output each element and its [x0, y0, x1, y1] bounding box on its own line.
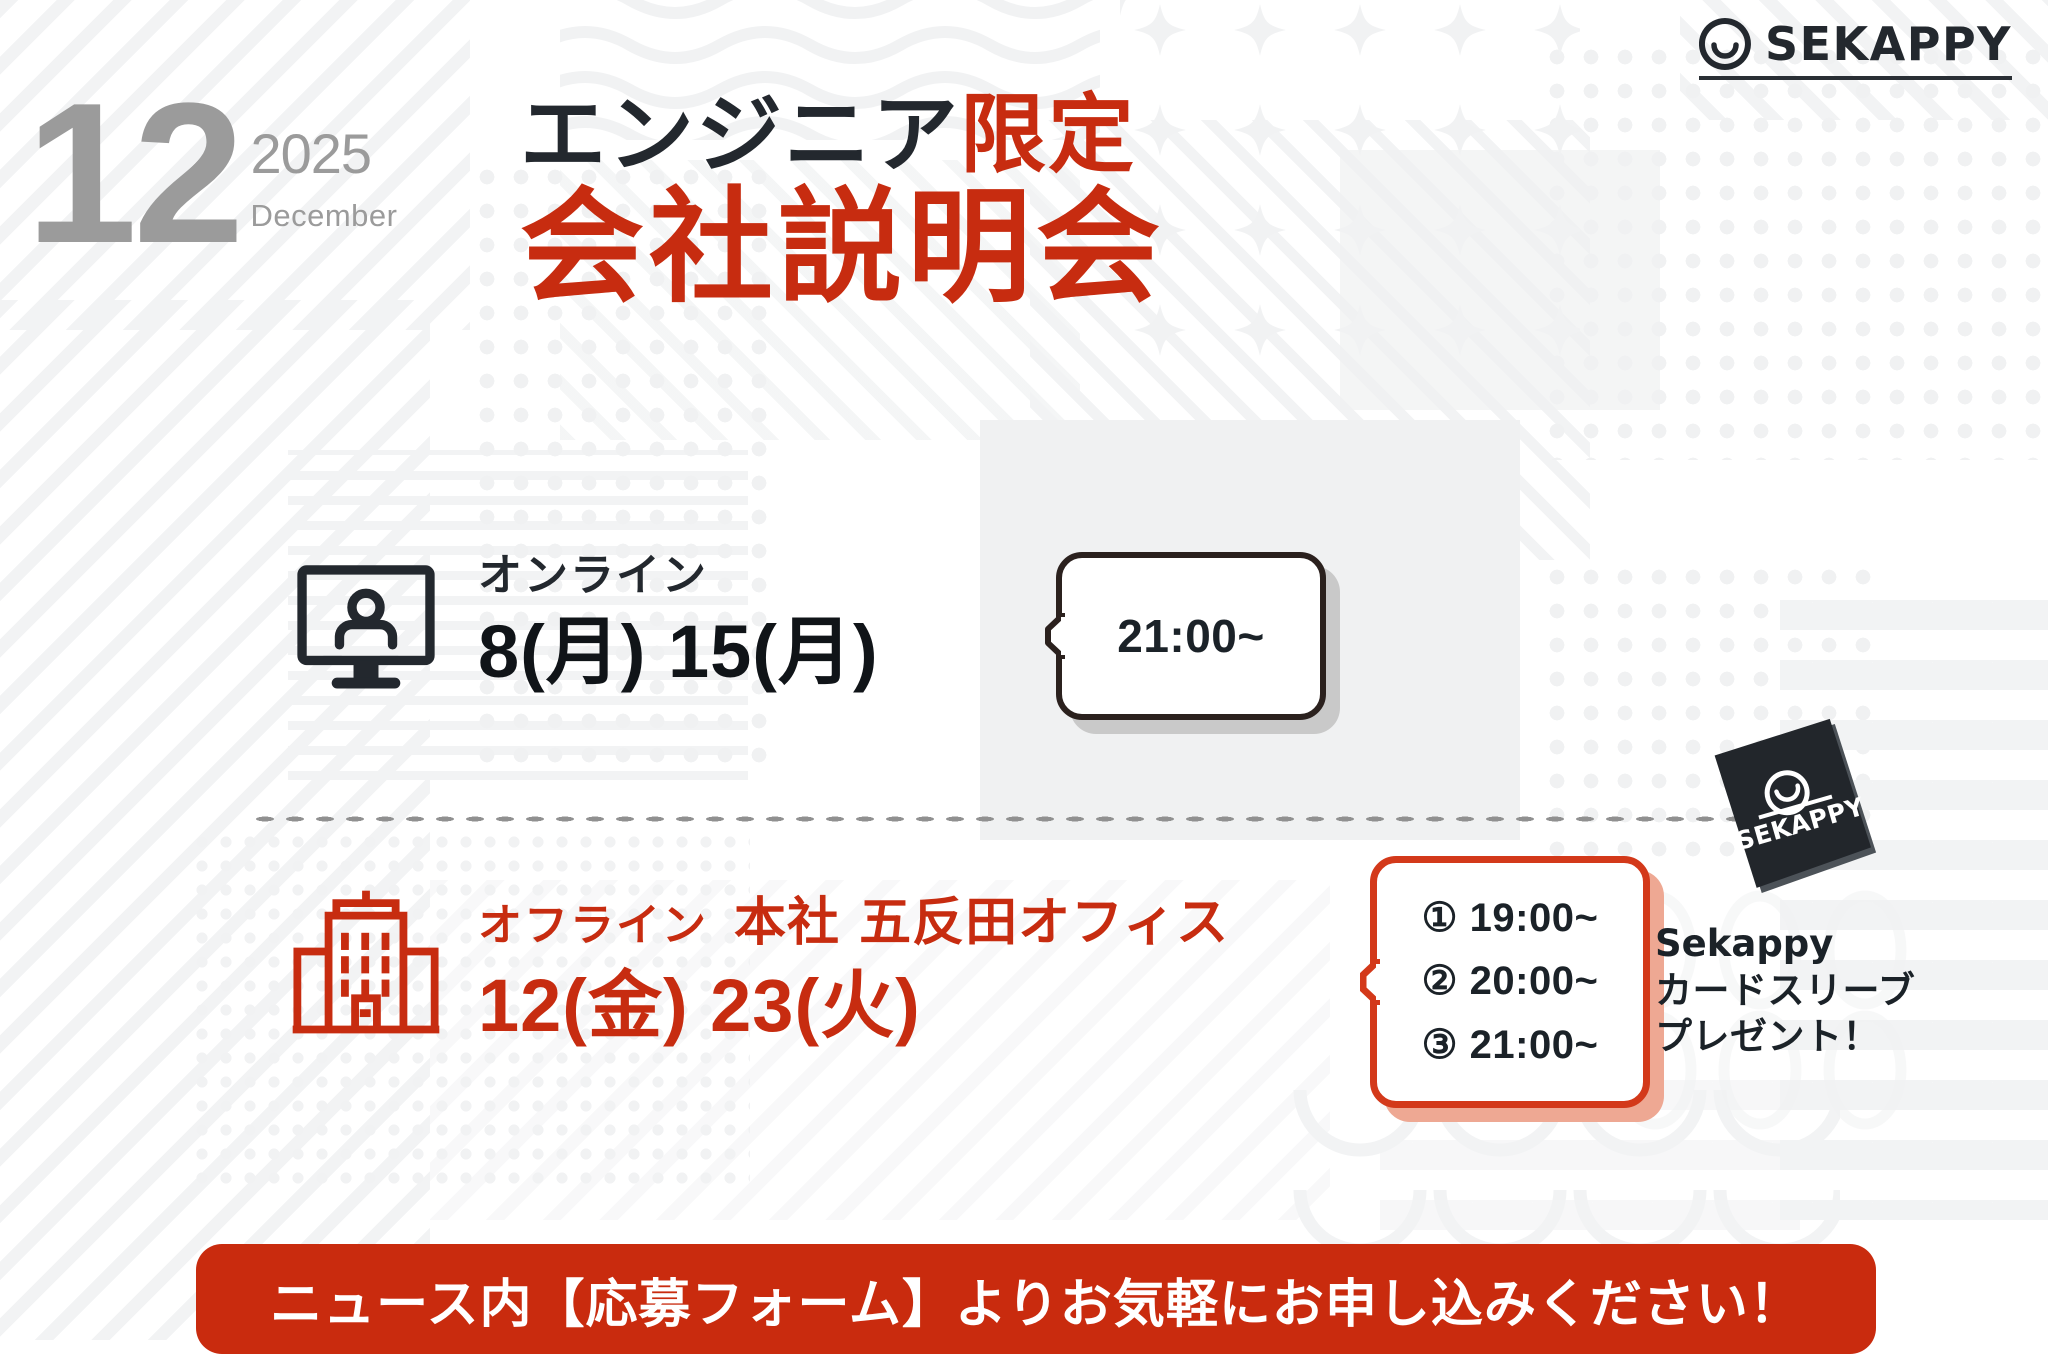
- month-name-label: December: [250, 198, 397, 234]
- section-divider: [250, 815, 1810, 823]
- bg-sparkle-pattern: [1120, 0, 1580, 430]
- logo-wordmark: SEKAPPY: [1765, 21, 2012, 67]
- offline-texts: オフライン 本社 五反田オフィス 12(金) 23(火): [478, 880, 1229, 1048]
- offline-place: 本社 五反田オフィス: [734, 880, 1229, 955]
- online-time-bubble: 21:00~: [1056, 552, 1326, 720]
- bubble-body: ① 19:00~ ② 20:00~ ③ 21:00~: [1370, 856, 1650, 1108]
- offline-time-0: ① 19:00~: [1422, 887, 1599, 950]
- office-building-icon: [288, 886, 444, 1042]
- office-building-icon-box: [276, 886, 456, 1042]
- online-time-0: 21:00~: [1117, 609, 1265, 663]
- sekappy-smiley-icon: [1699, 18, 1751, 70]
- offline-label: オフライン: [478, 902, 708, 950]
- online-label: オンライン: [478, 552, 879, 600]
- gift-line-3: プレゼント！: [1655, 1014, 1985, 1061]
- gift-text: Sekappy カードスリーブ プレゼント！: [1655, 921, 1985, 1061]
- bubble-tail-icon: [1045, 613, 1065, 659]
- offline-time-2: ③ 21:00~: [1422, 1014, 1599, 1077]
- gift-line-1: Sekappy: [1655, 921, 1985, 968]
- title-line-2: 会社説明会: [520, 184, 1165, 313]
- bubble-tail-icon: [1360, 959, 1380, 1005]
- offline-label-line: オフライン 本社 五反田オフィス: [478, 880, 1229, 955]
- gift-callout: SEKAPPY Sekappy カードスリーブ プレゼント！: [1655, 718, 1985, 1061]
- card-sleeve-box-icon: SEKAPPY: [1691, 718, 1891, 908]
- offline-time-1: ② 20:00~: [1422, 950, 1599, 1013]
- event-date-block: 12 2025 December: [26, 92, 397, 256]
- title-engineer-text: エンジニア: [520, 85, 960, 185]
- apply-cta-text: ニュース内【応募フォーム】よりお気軽にお申し込みください！: [270, 1262, 1802, 1337]
- month-number: 12: [26, 92, 240, 256]
- session-row-online: オンライン 8(月) 15(月): [276, 545, 879, 701]
- monitor-person-icon-box: [276, 545, 456, 701]
- page-title: エンジニア限定 会社説明会: [520, 92, 1165, 313]
- online-texts: オンライン 8(月) 15(月): [478, 552, 879, 693]
- session-row-offline: オフライン 本社 五反田オフィス 12(金) 23(火): [276, 880, 1229, 1048]
- gift-line-2: カードスリーブ: [1655, 968, 1985, 1015]
- year-label: 2025: [250, 126, 397, 182]
- offline-dates: 12(金) 23(火): [478, 963, 1229, 1048]
- title-line-1: エンジニア限定: [520, 92, 1165, 178]
- apply-cta-banner[interactable]: ニュース内【応募フォーム】よりお気軽にお申し込みください！: [196, 1244, 1876, 1354]
- monitor-person-icon: [288, 545, 444, 701]
- title-limited-text: 限定: [960, 85, 1136, 185]
- offline-time-bubble: ① 19:00~ ② 20:00~ ③ 21:00~: [1370, 856, 1650, 1108]
- online-dates: 8(月) 15(月): [478, 609, 879, 694]
- sekappy-logo[interactable]: SEKAPPY: [1699, 18, 2012, 80]
- bubble-body: 21:00~: [1056, 552, 1326, 720]
